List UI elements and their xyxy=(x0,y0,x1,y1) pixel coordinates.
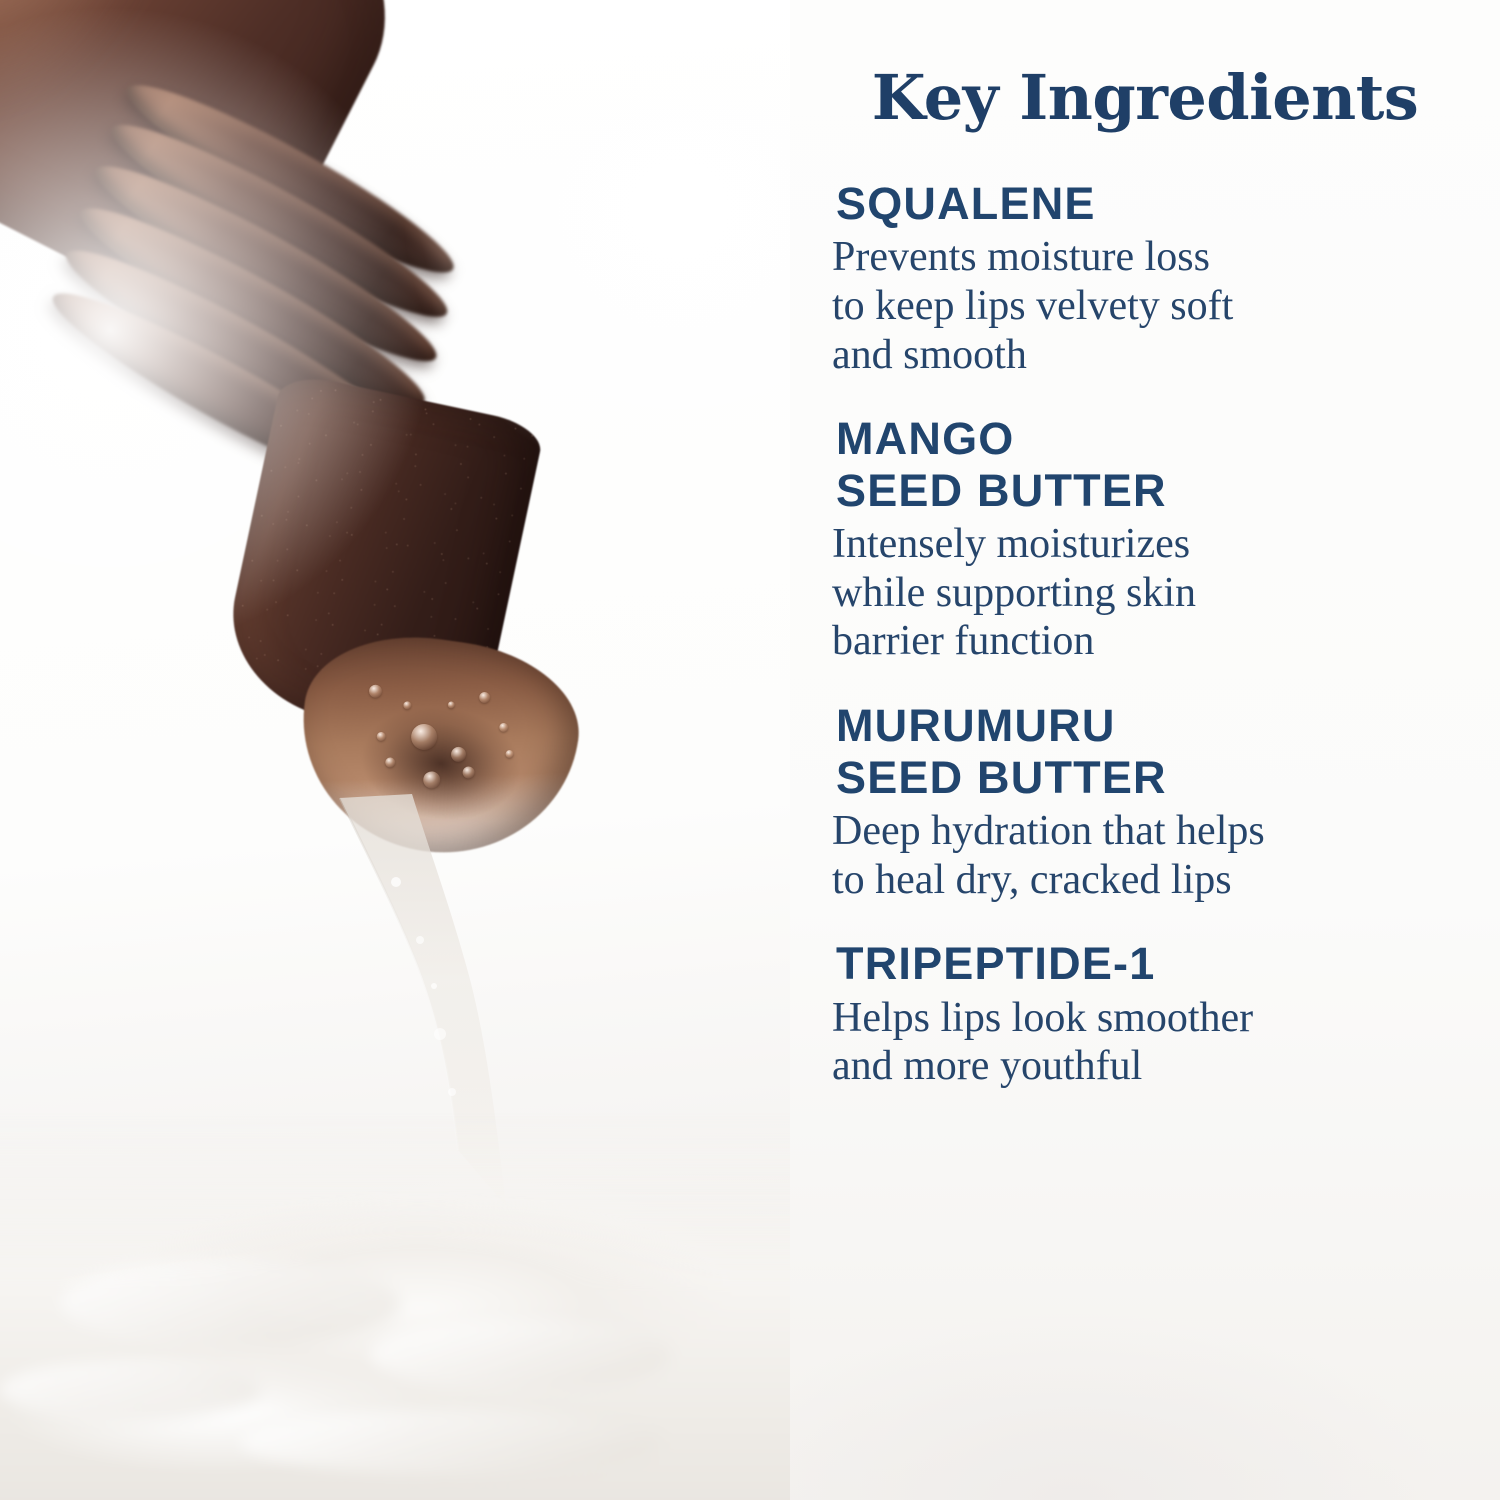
ingredient-desc-line: Prevents moisture loss xyxy=(832,233,1492,282)
ingredient-description: Deep hydration that helps to heal dry, c… xyxy=(832,807,1492,904)
ingredients-list: SQUALENE Prevents moisture loss to keep … xyxy=(832,178,1492,1091)
ingredient-name-line: SEED BUTTER xyxy=(836,465,1492,516)
ingredient-name-line: TRIPEPTIDE-1 xyxy=(836,938,1492,989)
ingredient-name: TRIPEPTIDE-1 xyxy=(836,938,1492,989)
ingredient-name: MANGO SEED BUTTER xyxy=(836,413,1492,516)
ingredient-item: MURUMURU SEED BUTTER Deep hydration that… xyxy=(832,700,1492,904)
ingredient-desc-line: and more youthful xyxy=(832,1042,1492,1091)
ingredient-desc-line: Deep hydration that helps xyxy=(832,807,1492,856)
ingredient-description: Intensely moisturizes while supporting s… xyxy=(832,520,1492,666)
ingredient-description: Helps lips look smoother and more youthf… xyxy=(832,994,1492,1091)
ingredient-item: MANGO SEED BUTTER Intensely moisturizes … xyxy=(832,413,1492,666)
ingredient-desc-line: Helps lips look smoother xyxy=(832,994,1492,1043)
ingredient-desc-line: barrier function xyxy=(832,617,1492,666)
ingredient-name-line: MANGO xyxy=(836,413,1492,464)
ingredient-desc-line: while supporting skin xyxy=(832,569,1492,618)
ingredient-desc-line: to heal dry, cracked lips xyxy=(832,856,1492,905)
ingredient-desc-line: and smooth xyxy=(832,331,1492,380)
ingredient-item: SQUALENE Prevents moisture loss to keep … xyxy=(832,178,1492,379)
ingredient-name-line: MURUMURU xyxy=(836,700,1492,751)
product-ingredients-infographic: Key Ingredients SQUALENE Prevents moistu… xyxy=(0,0,1500,1500)
ingredients-panel: Key Ingredients SQUALENE Prevents moistu… xyxy=(790,0,1500,1500)
ingredient-name-line: SEED BUTTER xyxy=(836,752,1492,803)
ingredient-desc-line: Intensely moisturizes xyxy=(832,520,1492,569)
oil-pool xyxy=(0,1110,790,1500)
ingredient-desc-line: to keep lips velvety soft xyxy=(832,282,1492,331)
ingredient-name: MURUMURU SEED BUTTER xyxy=(836,700,1492,803)
ingredient-name-line: SQUALENE xyxy=(836,178,1492,229)
page-title: Key Ingredients xyxy=(790,66,1500,130)
ingredient-description: Prevents moisture loss to keep lips velv… xyxy=(832,233,1492,379)
ingredient-item: TRIPEPTIDE-1 Helps lips look smoother an… xyxy=(832,938,1492,1091)
product-photo xyxy=(0,0,790,1500)
ingredient-name: SQUALENE xyxy=(836,178,1492,229)
